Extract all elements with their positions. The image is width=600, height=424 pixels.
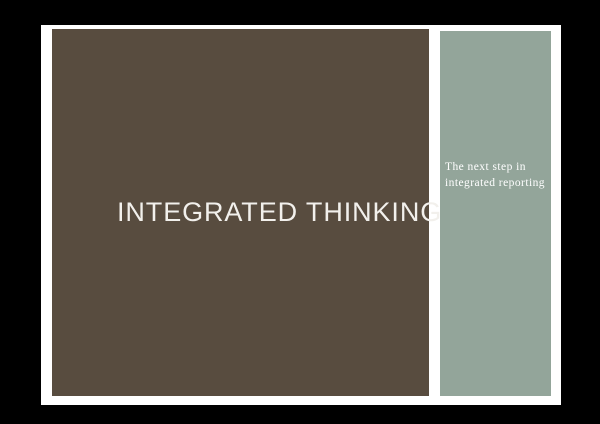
slide-title: INTEGRATED THINKING: [117, 198, 442, 228]
title-panel: INTEGRATED THINKING: [52, 29, 429, 396]
slide-subtitle: The next step in integrated reporting: [445, 160, 545, 191]
slide-page: INTEGRATED THINKING The next step in int…: [41, 25, 561, 405]
subtitle-panel: The next step in integrated reporting: [440, 31, 551, 396]
slide-backdrop: INTEGRATED THINKING The next step in int…: [0, 0, 600, 424]
